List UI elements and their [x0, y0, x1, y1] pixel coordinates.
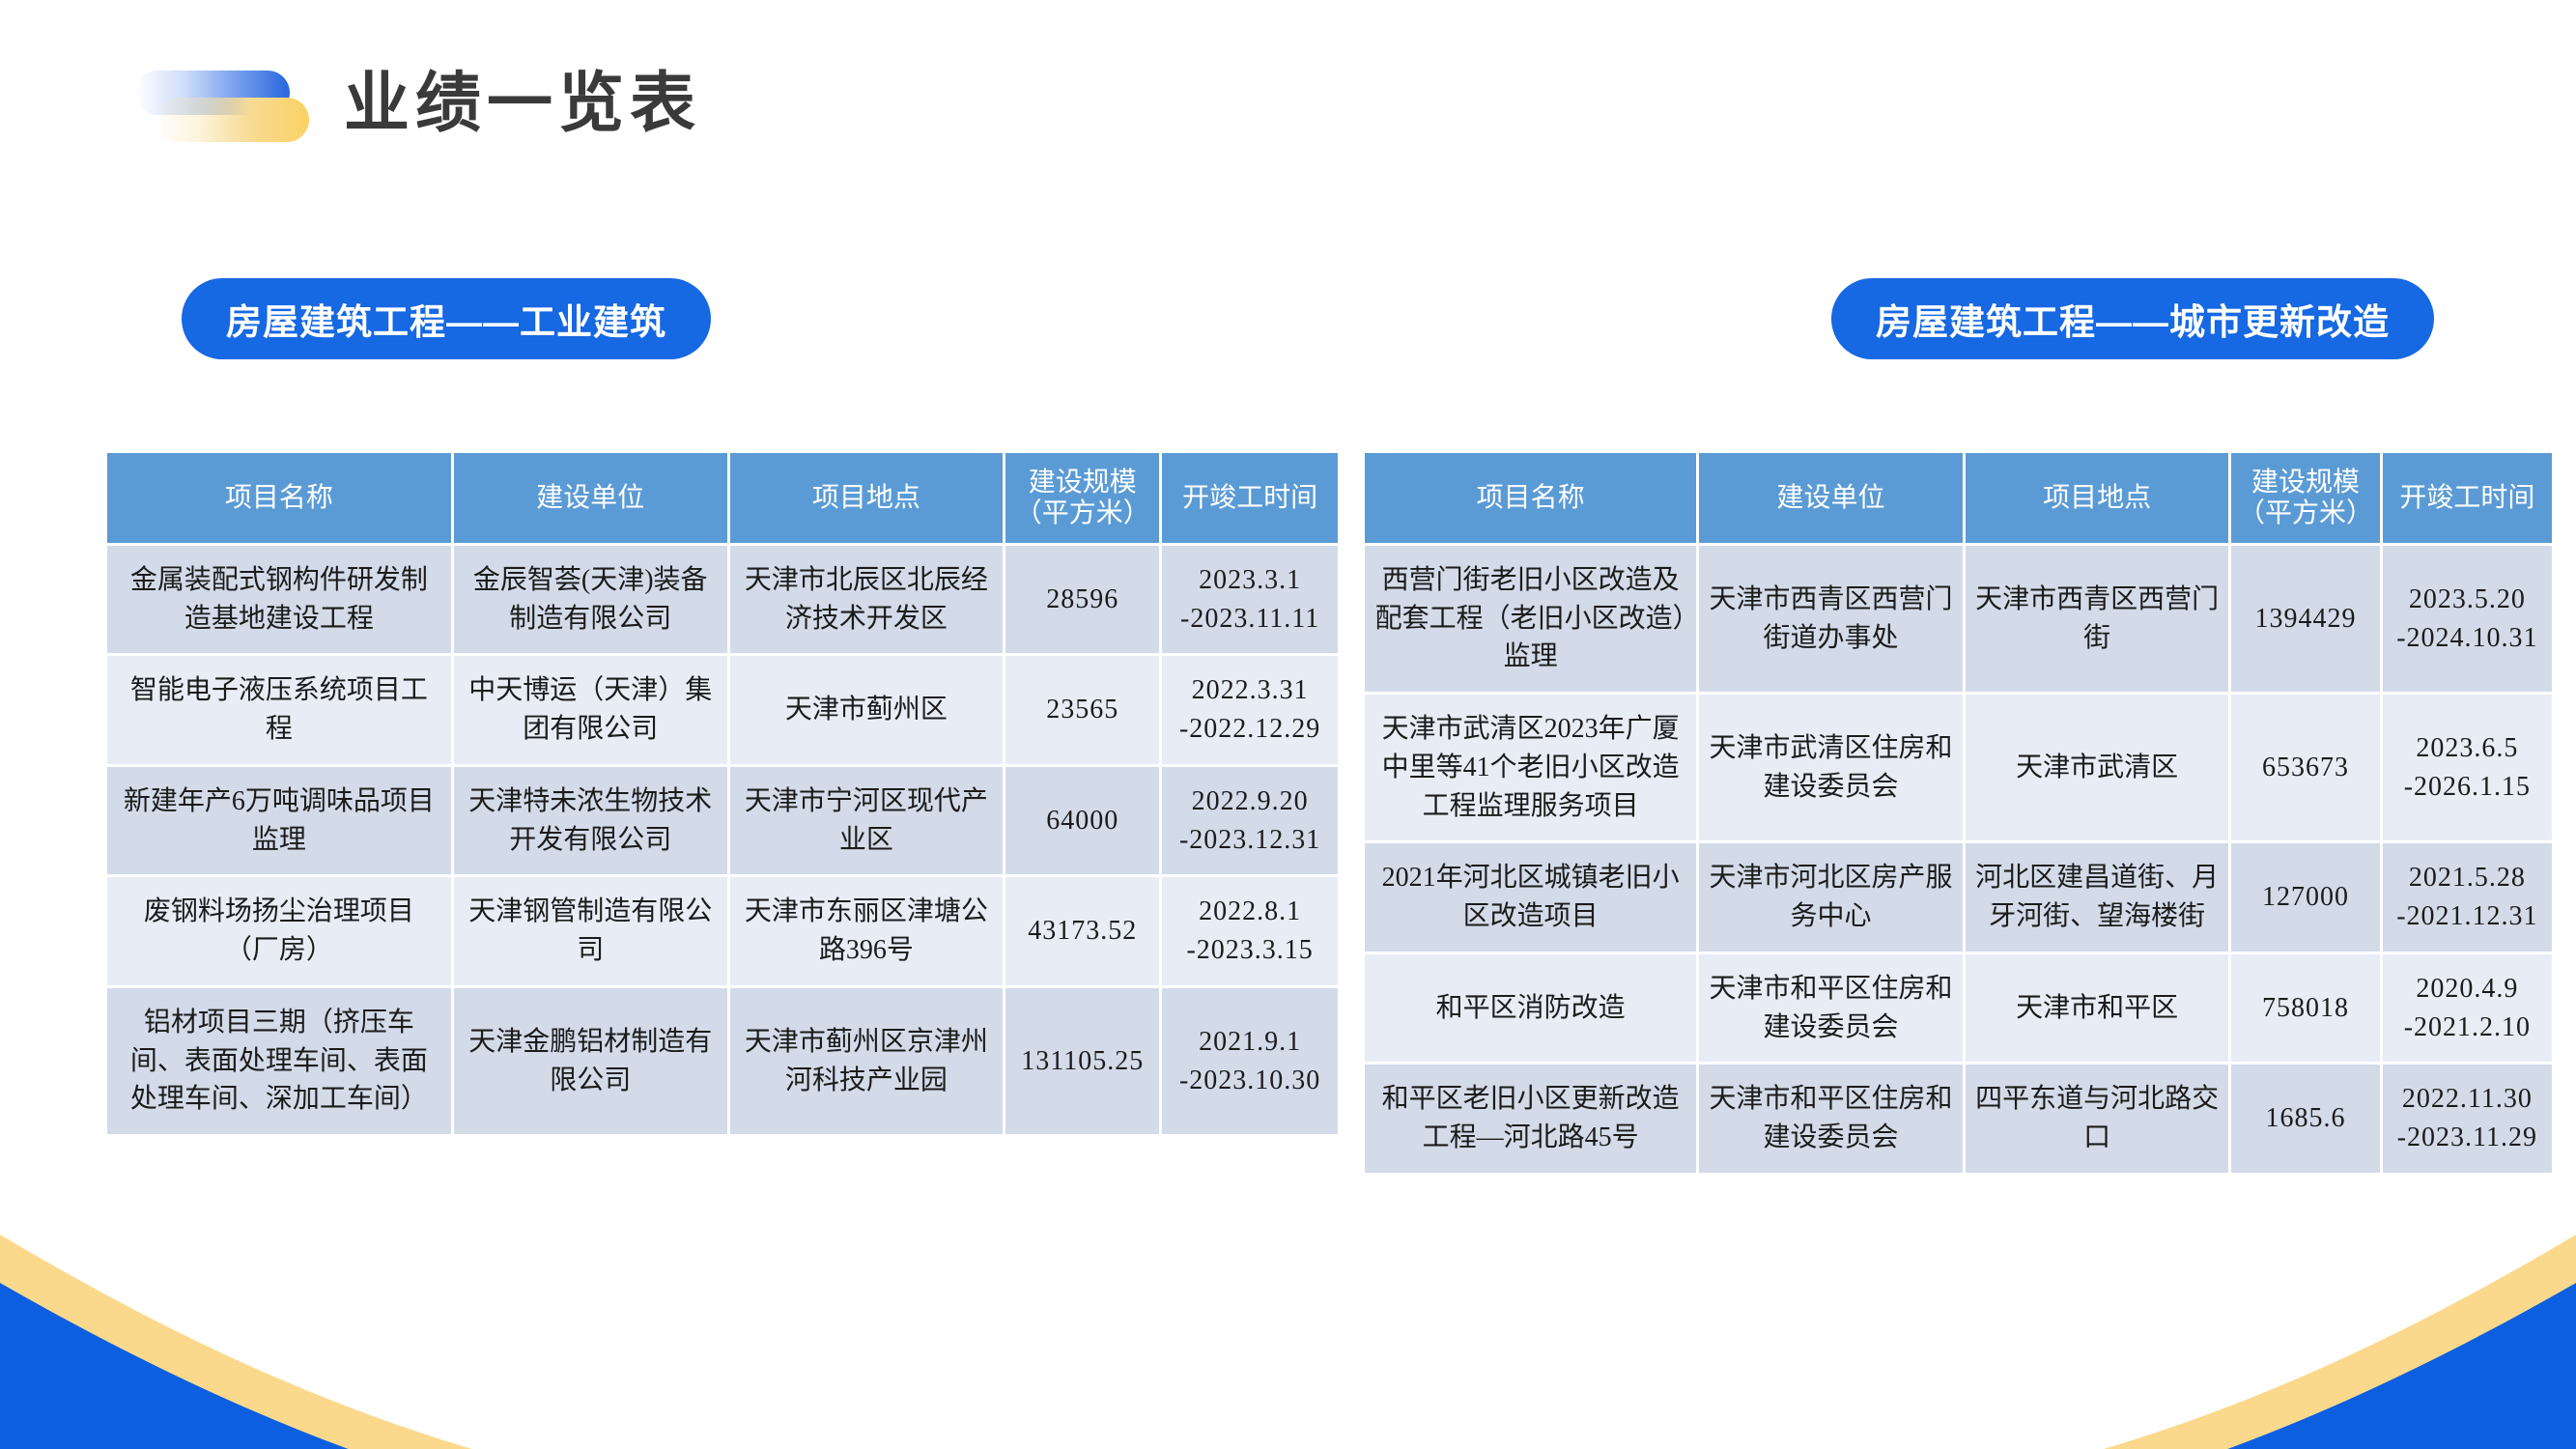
table-head: 项目名称 建设单位 项目地点 建设规模 （平方米） 开竣工时间	[107, 453, 1338, 543]
table-row: 智能电子液压系统项目工程 中天博运（天津）集团有限公司 天津市蓟州区 23565…	[107, 656, 1338, 764]
cell-build-scale: 131105.25	[1005, 988, 1159, 1134]
cell-project-name: 废钢料场扬尘治理项目（厂房）	[107, 877, 451, 985]
projects-table-urban-renewal-wrapper: 项目名称 建设单位 项目地点 建设规模 （平方米） 开竣工时间 西营门街老旧小区…	[1362, 450, 2555, 1176]
cell-build-unit: 天津金鹏铝材制造有限公司	[454, 988, 727, 1134]
cell-schedule: 2022.9.20 -2023.12.31	[1162, 767, 1338, 875]
table-row: 和平区老旧小区更新改造工程—河北路45号 天津市和平区住房和建设委员会 四平东道…	[1365, 1065, 2552, 1173]
table-head: 项目名称 建设单位 项目地点 建设规模 （平方米） 开竣工时间	[1365, 453, 2552, 543]
cell-project-place: 天津市北辰区北辰经济技术开发区	[730, 546, 1004, 654]
column-header-build-scale: 建设规模 （平方米）	[1005, 453, 1159, 543]
cell-build-scale: 1394429	[2231, 546, 2379, 692]
cell-project-name: 西营门街老旧小区改造及配套工程（老旧小区改造）监理	[1365, 546, 1696, 692]
brand-bar-gold-icon	[155, 98, 309, 142]
table-body: 西营门街老旧小区改造及配套工程（老旧小区改造）监理 天津市西青区西营门街道办事处…	[1365, 546, 2552, 1173]
cell-project-name: 金属装配式钢构件研发制造基地建设工程	[107, 546, 451, 654]
table-header-row: 项目名称 建设单位 项目地点 建设规模 （平方米） 开竣工时间	[1365, 453, 2552, 543]
column-header-build-scale: 建设规模 （平方米）	[2231, 453, 2379, 543]
cell-schedule: 2021.9.1 -2023.10.30	[1162, 988, 1338, 1134]
column-header-build-unit: 建设单位	[454, 453, 727, 543]
cell-schedule: 2021.5.28 -2021.12.31	[2383, 843, 2552, 952]
slide-page: 业绩一览表 房屋建筑工程——工业建筑 房屋建筑工程——城市更新改造 项目名称 建…	[0, 0, 2576, 1449]
cell-build-unit: 天津市河北区房产服务中心	[1699, 843, 1963, 952]
cell-schedule: 2022.8.1 -2023.3.15	[1162, 877, 1338, 985]
cell-project-name: 新建年产6万吨调味品项目监理	[107, 767, 451, 875]
table-row: 2021年河北区城镇老旧小区改造项目 天津市河北区房产服务中心 河北区建昌道街、…	[1365, 843, 2552, 952]
cell-project-place: 天津市和平区	[1966, 954, 2229, 1063]
cell-schedule: 2023.5.20 -2024.10.31	[2383, 546, 2552, 692]
cell-build-unit: 天津市西青区西营门街道办事处	[1699, 546, 1963, 692]
page-title: 业绩一览表	[344, 71, 701, 136]
column-header-schedule: 开竣工时间	[2383, 453, 2552, 543]
cell-project-place: 河北区建昌道街、月牙河街、望海楼街	[1966, 843, 2229, 952]
cell-build-scale: 653673	[2231, 695, 2379, 840]
cell-build-scale: 64000	[1005, 767, 1159, 875]
cell-build-scale: 758018	[2231, 954, 2379, 1063]
section-pill-urban-renewal: 房屋建筑工程——城市更新改造	[1831, 278, 2434, 359]
cell-build-unit: 金辰智荟(天津)装备制造有限公司	[454, 546, 727, 654]
table-row: 废钢料场扬尘治理项目（厂房） 天津钢管制造有限公司 天津市东丽区津塘公路396号…	[107, 877, 1338, 985]
cell-build-unit: 天津钢管制造有限公司	[454, 877, 727, 985]
column-header-schedule: 开竣工时间	[1162, 453, 1338, 543]
table-row: 铝材项目三期（挤压车间、表面处理车间、表面处理车间、深加工车间） 天津金鹏铝材制…	[107, 988, 1338, 1134]
projects-table-urban-renewal: 项目名称 建设单位 项目地点 建设规模 （平方米） 开竣工时间 西营门街老旧小区…	[1362, 450, 2555, 1176]
cell-project-name: 智能电子液压系统项目工程	[107, 656, 451, 764]
cell-project-name: 和平区消防改造	[1365, 954, 1696, 1063]
cell-build-unit: 天津特未浓生物技术开发有限公司	[454, 767, 727, 875]
cell-schedule: 2022.11.30 -2023.11.29	[2383, 1065, 2552, 1173]
section-pill-industrial: 房屋建筑工程——工业建筑	[182, 278, 711, 359]
column-header-project-name: 项目名称	[107, 453, 451, 543]
cell-schedule: 2023.3.1 -2023.11.11	[1162, 546, 1338, 654]
cell-build-unit: 中天博运（天津）集团有限公司	[454, 656, 727, 764]
cell-schedule: 2020.4.9 -2021.2.10	[2383, 954, 2552, 1063]
cell-build-scale: 127000	[2231, 843, 2379, 952]
table-row: 新建年产6万吨调味品项目监理 天津特未浓生物技术开发有限公司 天津市宁河区现代产…	[107, 767, 1338, 875]
brand-logo-icon	[135, 57, 309, 150]
cell-build-unit: 天津市和平区住房和建设委员会	[1699, 1065, 1963, 1173]
cell-build-unit: 天津市和平区住房和建设委员会	[1699, 954, 1963, 1063]
cell-project-name: 2021年河北区城镇老旧小区改造项目	[1365, 843, 1696, 952]
cell-schedule: 2022.3.31 -2022.12.29	[1162, 656, 1338, 764]
table-row: 和平区消防改造 天津市和平区住房和建设委员会 天津市和平区 758018 202…	[1365, 954, 2552, 1063]
page-header: 业绩一览表	[135, 50, 701, 156]
table-body: 金属装配式钢构件研发制造基地建设工程 金辰智荟(天津)装备制造有限公司 天津市北…	[107, 546, 1338, 1134]
cell-project-name: 和平区老旧小区更新改造工程—河北路45号	[1365, 1065, 1696, 1173]
column-header-build-unit: 建设单位	[1699, 453, 1963, 543]
projects-table-industrial-wrapper: 项目名称 建设单位 项目地点 建设规模 （平方米） 开竣工时间 金属装配式钢构件…	[104, 450, 1341, 1137]
cell-build-scale: 43173.52	[1005, 877, 1159, 985]
cell-schedule: 2023.6.5 -2026.1.15	[2383, 695, 2552, 840]
cell-project-place: 天津市西青区西营门街	[1966, 546, 2229, 692]
cell-build-scale: 23565	[1005, 656, 1159, 764]
cell-project-place: 天津市蓟州区	[730, 656, 1004, 764]
cell-project-place: 四平东道与河北路交口	[1966, 1065, 2229, 1173]
table-header-row: 项目名称 建设单位 项目地点 建设规模 （平方米） 开竣工时间	[107, 453, 1338, 543]
wave-gold-band	[0, 1235, 2576, 1449]
table-row: 西营门街老旧小区改造及配套工程（老旧小区改造）监理 天津市西青区西营门街道办事处…	[1365, 546, 2552, 692]
cell-project-place: 天津市东丽区津塘公路396号	[730, 877, 1004, 985]
column-header-project-place: 项目地点	[730, 453, 1004, 543]
cell-build-scale: 28596	[1005, 546, 1159, 654]
table-row: 金属装配式钢构件研发制造基地建设工程 金辰智荟(天津)装备制造有限公司 天津市北…	[107, 546, 1338, 654]
cell-project-name: 铝材项目三期（挤压车间、表面处理车间、表面处理车间、深加工车间）	[107, 988, 451, 1134]
table-row: 天津市武清区2023年广厦中里等41个老旧小区改造工程监理服务项目 天津市武清区…	[1365, 695, 2552, 840]
cell-project-place: 天津市武清区	[1966, 695, 2229, 840]
cell-project-place: 天津市宁河区现代产业区	[730, 767, 1004, 875]
cell-build-scale: 1685.6	[2231, 1065, 2379, 1173]
cell-project-name: 天津市武清区2023年广厦中里等41个老旧小区改造工程监理服务项目	[1365, 695, 1696, 840]
column-header-project-place: 项目地点	[1966, 453, 2229, 543]
wave-blue-band	[0, 1283, 2576, 1449]
projects-table-industrial: 项目名称 建设单位 项目地点 建设规模 （平方米） 开竣工时间 金属装配式钢构件…	[104, 450, 1341, 1137]
column-header-project-name: 项目名称	[1365, 453, 1696, 543]
bottom-wave-decoration	[0, 1198, 2576, 1449]
cell-project-place: 天津市蓟州区京津州河科技产业园	[730, 988, 1004, 1134]
cell-build-unit: 天津市武清区住房和建设委员会	[1699, 695, 1963, 840]
